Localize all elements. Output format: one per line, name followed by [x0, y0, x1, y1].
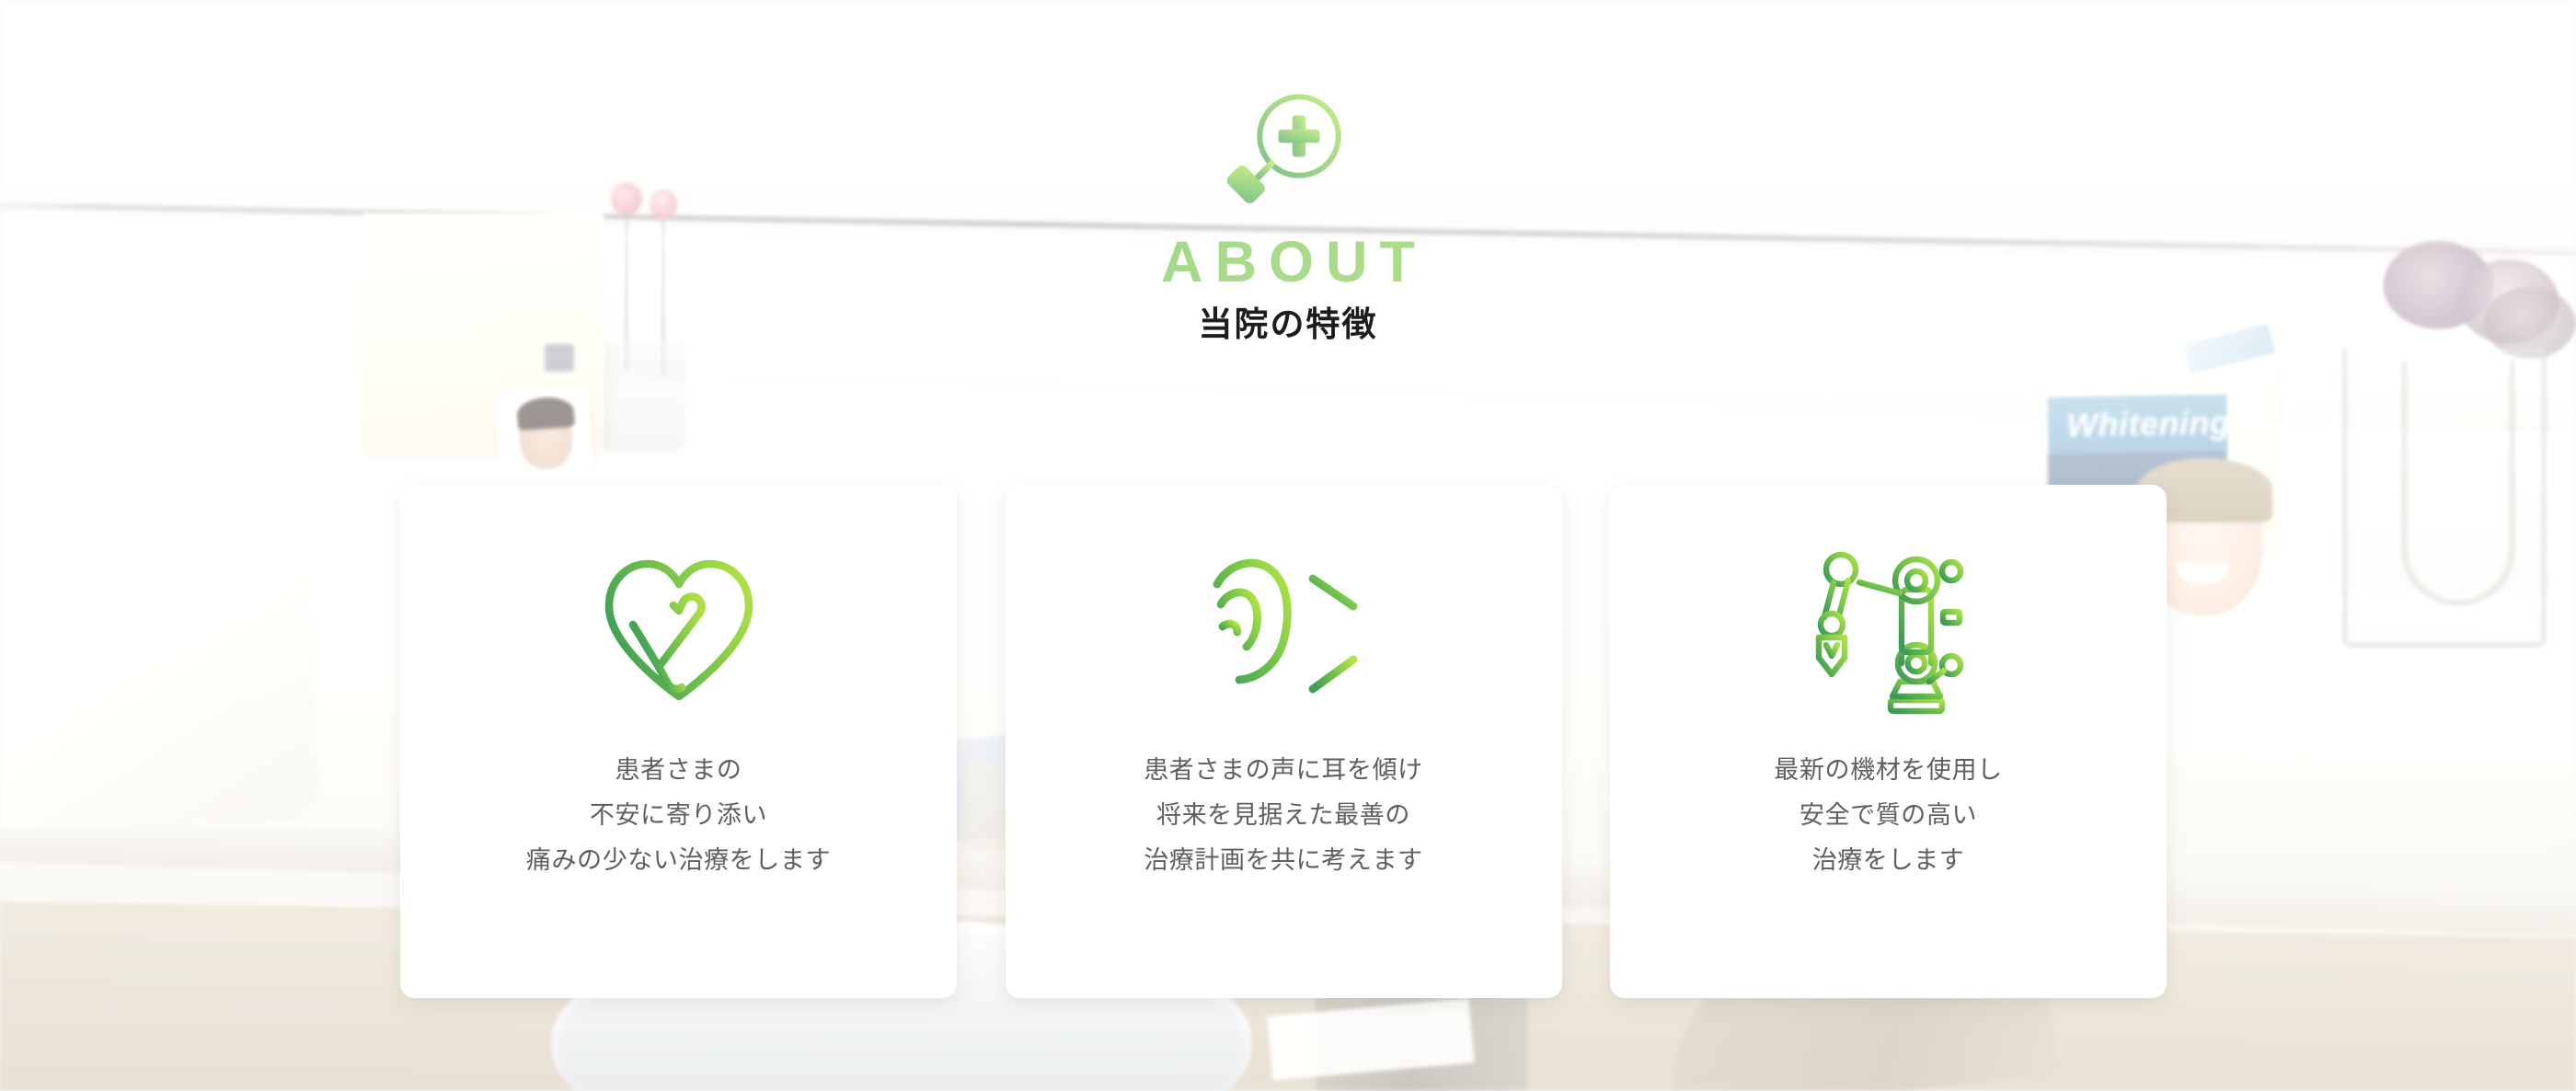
ear-listening-icon — [1191, 538, 1375, 722]
feature-card[interactable]: 最新の機材を使用し 安全で質の高い 治療をします — [1610, 485, 2167, 998]
section-title-jp: 当院の特徴 — [0, 304, 2576, 345]
robot-arm-icon — [1797, 538, 1981, 722]
heart-check-icon — [587, 538, 771, 722]
section-title-en: ABOUT — [0, 234, 2576, 292]
feature-card-list: 患者さまの 不安に寄り添い 痛みの少ない治療をします — [400, 485, 2167, 998]
magnifier-plus-icon — [1219, 81, 1357, 219]
feature-card[interactable]: 患者さまの 不安に寄り添い 痛みの少ない治療をします — [400, 485, 957, 998]
section-header: ABOUT 当院の特徴 — [0, 81, 2576, 345]
feature-card-text: 患者さまの声に耳を傾け 将来を見据えた最善の 治療計画を共に考えます — [1144, 748, 1423, 883]
feature-card-text: 最新の機材を使用し 安全で質の高い 治療をします — [1774, 748, 2002, 883]
feature-card-text: 患者さまの 不安に寄り添い 痛みの少ない治療をします — [526, 748, 831, 883]
about-section: Whitening — [0, 0, 2576, 1091]
feature-card[interactable]: 患者さまの声に耳を傾け 将来を見据えた最善の 治療計画を共に考えます — [1006, 485, 1562, 998]
section-content: ABOUT 当院の特徴 患者さま — [0, 0, 2576, 1091]
